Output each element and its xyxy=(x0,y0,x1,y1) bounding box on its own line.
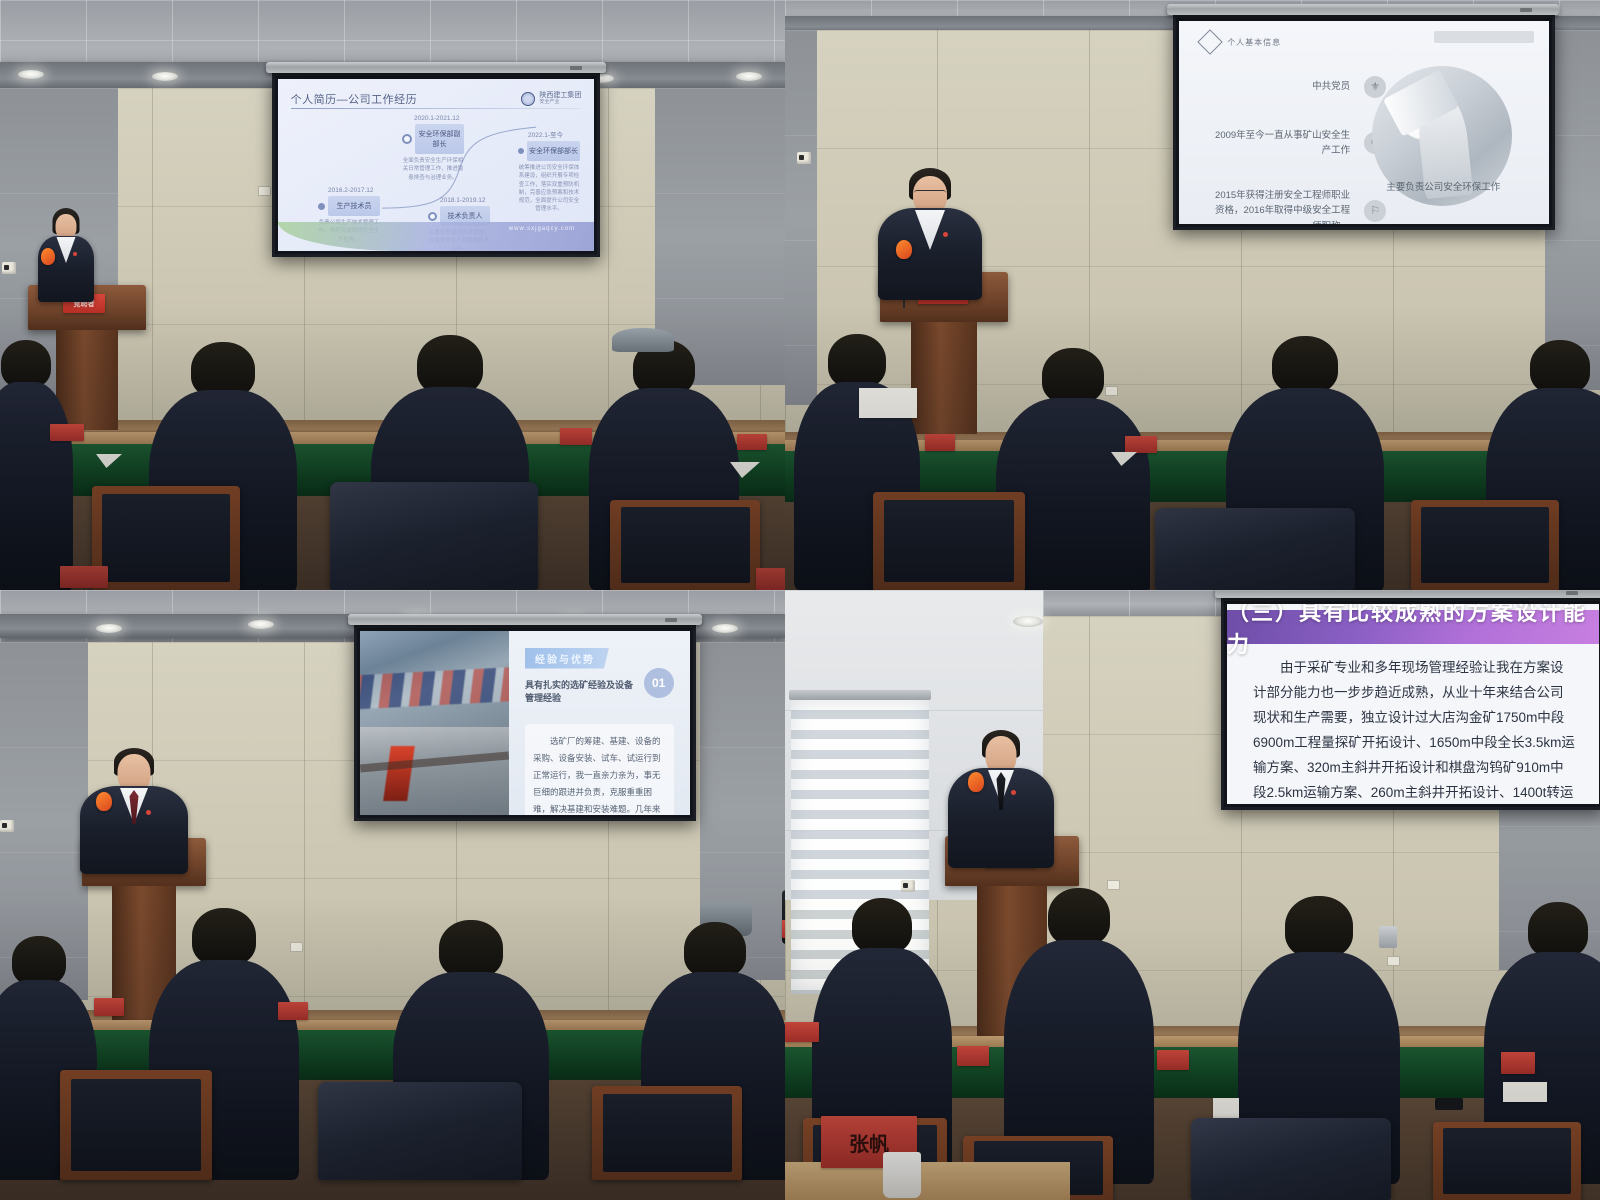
projector-screen-housing xyxy=(1215,590,1600,598)
chair-pad xyxy=(621,507,750,583)
timeline-node: 2020.1-2021.12 安全环保部副部长 全面负责安全生产环保相关日常管理… xyxy=(402,115,464,182)
audience-head xyxy=(12,936,66,986)
audience-head xyxy=(852,898,912,954)
paper-sheet xyxy=(1213,1098,1239,1118)
wall-sensor xyxy=(2,262,16,274)
blind-headrail xyxy=(789,690,931,700)
table-nameplate xyxy=(737,434,767,450)
chair-pad xyxy=(102,494,229,581)
downlight xyxy=(96,624,122,633)
table-nameplate xyxy=(60,566,108,588)
timeline-dot xyxy=(318,203,325,210)
lapel-pin-icon xyxy=(1011,790,1016,795)
chair-cover xyxy=(1191,1118,1391,1200)
slide-section-three: （三）具有比较成熟的方案设计能力 由于采矿专业和多年现场管理经验让我在方案设计部… xyxy=(1227,604,1599,804)
downlight xyxy=(248,620,274,629)
table-nameplate xyxy=(1125,436,1157,453)
panel-top-right: 个人基本信息 中共党员 ⚜ 2009年至今一直从事矿山安全生产工作 ⚙ 2015… xyxy=(785,0,1600,590)
microphone-icon xyxy=(96,792,112,811)
table-nameplate xyxy=(957,1046,989,1066)
downlight xyxy=(736,72,762,81)
chair xyxy=(60,1070,212,1180)
chair-pad xyxy=(71,1079,202,1171)
photo-grid: 个人简历—公司工作经历 陕西建工集团 安全产业 2016.2-201 xyxy=(0,0,1600,1200)
chair xyxy=(873,492,1025,590)
audience-head xyxy=(1048,888,1110,946)
audience-body xyxy=(0,382,73,590)
timeline-dot xyxy=(402,134,412,144)
chair-cover xyxy=(330,482,538,590)
chair xyxy=(1411,500,1559,590)
audience-head xyxy=(1,340,51,388)
slide-banner: 经验与优势 xyxy=(525,648,609,669)
wall-sensor xyxy=(797,152,811,164)
slide-header-text: 个人基本信息 xyxy=(1227,37,1281,48)
projector-screen-housing xyxy=(1167,4,1559,15)
audience-head xyxy=(1285,896,1353,958)
list-item: 中共党员 ⚜ xyxy=(1209,76,1387,98)
audience-head xyxy=(828,334,886,388)
slide-subtitle: 具有扎实的选矿经验及设备管理经验 xyxy=(525,679,638,707)
chair xyxy=(1433,1122,1581,1200)
slide-photo-bottom xyxy=(360,727,509,815)
microphone-icon xyxy=(41,248,55,265)
chair-pad xyxy=(603,1094,732,1173)
slide-title-banner: （三）具有比较成熟的方案设计能力 xyxy=(1227,610,1599,644)
wall-sensor xyxy=(901,880,915,892)
table-nameplate xyxy=(94,998,124,1016)
slide-experience-advantage: 经验与优势 具有扎实的选矿经验及设备管理经验 01 选矿厂的筹建、基建、设备的采… xyxy=(360,631,690,815)
slide-number-badge: 01 xyxy=(644,668,674,698)
table-nameplate xyxy=(1157,1050,1189,1070)
slide-photos xyxy=(360,631,509,815)
downlight xyxy=(152,72,178,81)
audience-head xyxy=(417,335,483,395)
panel-bottom-left: 经验与优势 具有扎实的选矿经验及设备管理经验 01 选矿厂的筹建、基建、设备的采… xyxy=(0,590,785,1200)
panel-top-left: 个人简历—公司工作经历 陕西建工集团 安全产业 2016.2-201 xyxy=(0,0,785,590)
table-nameplate xyxy=(756,568,785,590)
audience-head xyxy=(192,908,256,966)
timeline-dot xyxy=(518,148,524,154)
audience-head xyxy=(684,922,746,978)
panel-bottom-right: （三）具有比较成熟的方案设计能力 由于采矿专业和多年现场管理经验让我在方案设计部… xyxy=(785,590,1600,1200)
info-list: 中共党员 ⚜ 2009年至今一直从事矿山安全生产工作 ⚙ 2015年获得注册安全… xyxy=(1209,76,1387,224)
table-nameplate xyxy=(50,424,84,441)
wall-outlet xyxy=(258,186,271,196)
microphone-icon xyxy=(896,240,912,259)
table-nameplate xyxy=(1501,1052,1535,1074)
projector-screen-housing xyxy=(348,614,702,625)
microphone-icon xyxy=(968,772,984,792)
projection-screen-4: （三）具有比较成熟的方案设计能力 由于采矿专业和多年现场管理经验让我在方案设计部… xyxy=(1221,598,1600,810)
lapel-pin-icon xyxy=(943,232,948,237)
speaker-person-3 xyxy=(78,748,190,870)
paper-sheet xyxy=(859,388,917,418)
timeline-node: 2022.1-至今 安全环保部部长 统筹推进公司安全环保体系建设，组织开展专项检… xyxy=(518,129,580,214)
list-item: 2015年获得注册安全工程师职业资格，2016年取得中级安全工程师职称。 ⚐ xyxy=(1209,188,1387,224)
slide-footer-url: www.sxjgaqcy.com xyxy=(509,226,575,232)
chair xyxy=(92,486,240,590)
downlight xyxy=(712,624,738,633)
headrest xyxy=(612,328,674,352)
speaker-person-2 xyxy=(875,168,985,298)
table-nameplate xyxy=(782,920,785,938)
lapel-pin-icon xyxy=(73,252,77,256)
certificate-icon: ⚐ xyxy=(1364,200,1386,222)
lapel-pin-icon xyxy=(146,810,151,815)
projection-screen-3: 经验与优势 具有扎实的选矿经验及设备管理经验 01 选矿厂的筹建、基建、设备的采… xyxy=(354,625,696,821)
slide-body-text: 由于采矿专业和多年现场管理经验让我在方案设计部分能力也一步步趋近成熟，从业十年来… xyxy=(1253,656,1577,804)
chair-pad xyxy=(1421,507,1548,583)
downlight xyxy=(18,70,44,79)
audience-head xyxy=(1530,340,1590,394)
slide-text-column: 经验与优势 具有扎实的选矿经验及设备管理经验 01 选矿厂的筹建、基建、设备的采… xyxy=(509,631,691,815)
wall-sensor xyxy=(0,820,14,832)
paper-cup xyxy=(883,1152,921,1198)
table-nameplate xyxy=(925,434,955,451)
chair xyxy=(592,1086,742,1180)
slide-photo-top xyxy=(360,631,509,727)
table-nameplate xyxy=(785,1022,819,1042)
audience-head xyxy=(1272,336,1338,394)
projection-screen-1: 个人简历—公司工作经历 陕西建工集团 安全产业 2016.2-201 xyxy=(272,73,600,257)
slide-resume-timeline: 个人简历—公司工作经历 陕西建工集团 安全产业 2016.2-201 xyxy=(278,79,594,251)
chair xyxy=(610,500,760,590)
slide-blur-block xyxy=(1434,31,1534,43)
paper-sheet xyxy=(1503,1082,1547,1102)
audience-head xyxy=(1042,348,1104,404)
chair-pad xyxy=(884,500,1015,582)
chair-cover xyxy=(318,1082,522,1180)
audience-member xyxy=(0,340,74,590)
projection-screen-2: 个人基本信息 中共党员 ⚜ 2009年至今一直从事矿山安全生产工作 ⚙ 2015… xyxy=(1173,15,1555,230)
glasses-icon xyxy=(914,190,946,197)
diamond-icon xyxy=(1197,29,1222,54)
slide-basic-info: 个人基本信息 中共党员 ⚜ 2009年至今一直从事矿山安全生产工作 ⚙ 2015… xyxy=(1179,21,1549,224)
slide-body-text: 选矿厂的筹建、基建、设备的采购、设备安装、试车、试运行到正常运行，我一直亲力亲为… xyxy=(525,724,674,815)
party-member-icon: ⚜ xyxy=(1364,76,1386,98)
list-item: 2009年至今一直从事矿山安全生产工作 ⚙ xyxy=(1209,128,1387,158)
table-nameplate xyxy=(560,428,592,445)
chair-pad xyxy=(1443,1128,1570,1194)
drinking-glass xyxy=(1379,926,1397,948)
audience-head xyxy=(439,920,503,978)
projector-screen-housing xyxy=(266,62,606,73)
smartphone xyxy=(1435,1098,1463,1110)
slide-photo-caption: 主要负责公司安全环保工作 xyxy=(1378,180,1508,195)
slide-header: 个人基本信息 xyxy=(1201,33,1281,51)
timeline-dot xyxy=(428,212,437,221)
table-nameplate xyxy=(278,1002,308,1020)
audience-head xyxy=(1528,902,1588,958)
speaker-person-4 xyxy=(945,730,1057,866)
chair-cover xyxy=(1155,508,1355,590)
downlight xyxy=(1013,616,1043,627)
